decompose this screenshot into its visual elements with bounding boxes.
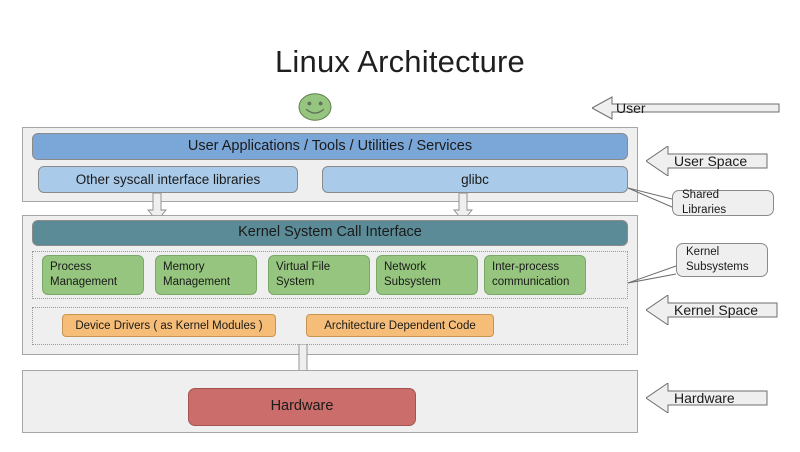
annotation-arrow-kernel-space: Kernel Space xyxy=(646,295,778,325)
subsystem-box-process-management[interactable]: ProcessManagement xyxy=(42,255,144,295)
hardware-box[interactable]: Hardware xyxy=(188,388,416,426)
callout-kernel-subsystems-line1: Kernel xyxy=(686,245,749,260)
annotation-arrow-user-space: User Space xyxy=(646,146,768,176)
other-syscall-libraries-box[interactable]: Other syscall interface libraries xyxy=(38,166,298,193)
page-title: Linux Architecture xyxy=(0,44,800,80)
device-drivers-box[interactable]: Device Drivers ( as Kernel Modules ) xyxy=(62,314,276,337)
kernel-system-call-interface-bar[interactable]: Kernel System Call Interface xyxy=(32,220,628,246)
smiley-face-icon xyxy=(297,92,333,122)
subsystem-box-network-subsystem[interactable]: NetworkSubsystem xyxy=(376,255,478,295)
annotation-arrow-user: User xyxy=(592,93,780,123)
callout-kernel-subsystems: Kernel Subsystems xyxy=(676,243,768,277)
subsystem-box-inter-process-communication[interactable]: Inter-processcommunication xyxy=(484,255,586,295)
architecture-dependent-code-box[interactable]: Architecture Dependent Code xyxy=(306,314,494,337)
glibc-box[interactable]: glibc xyxy=(322,166,628,193)
diagram-canvas: Linux Architecture User Applications / T… xyxy=(0,0,800,452)
callout-shared-libraries: Shared Libraries xyxy=(672,190,774,216)
annotation-arrow-hardware: Hardware xyxy=(646,383,768,413)
subsystem-box-virtual-file-system[interactable]: Virtual FileSystem xyxy=(268,255,370,295)
subsystem-box-memory-management[interactable]: MemoryManagement xyxy=(155,255,257,295)
user-applications-bar[interactable]: User Applications / Tools / Utilities / … xyxy=(32,133,628,160)
callout-kernel-subsystems-line2: Subsystems xyxy=(686,260,749,275)
